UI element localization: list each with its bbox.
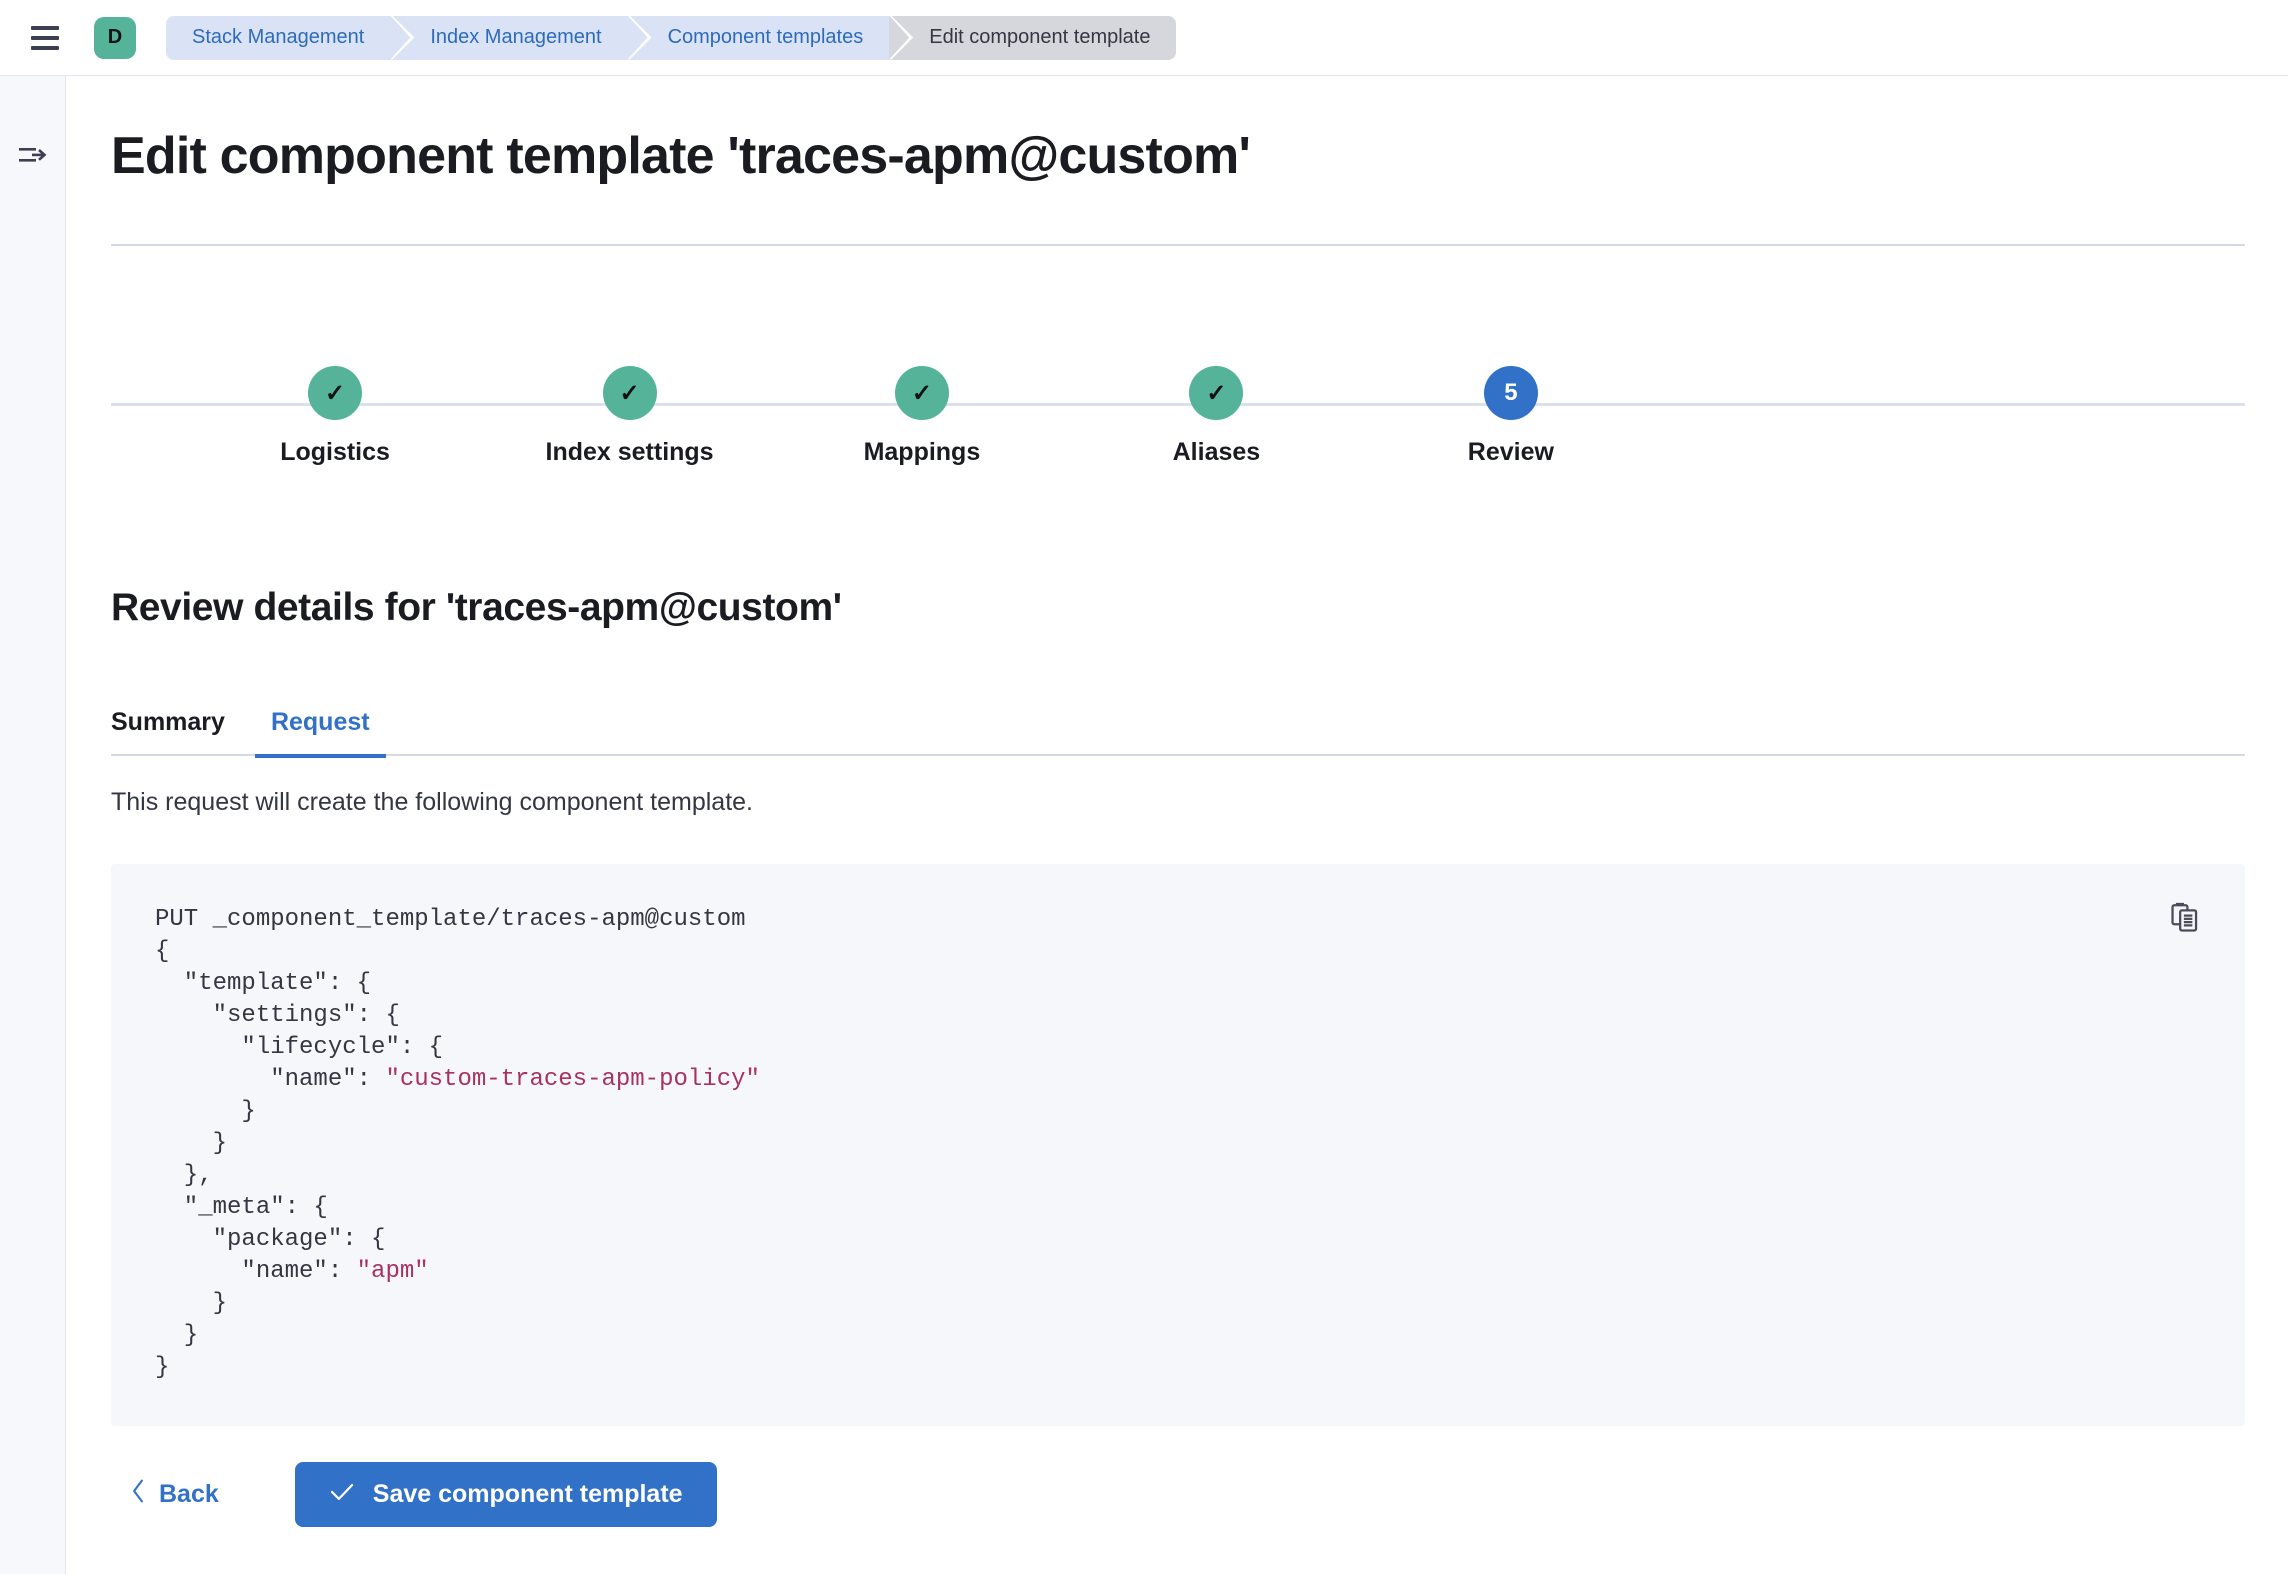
wizard-footer: Back Save component template (111, 1462, 717, 1527)
hamburger-menu-icon[interactable] (24, 17, 66, 59)
request-code-block: PUT _component_template/traces-apm@custo… (111, 864, 2245, 1426)
step-marker-complete: ✓ (895, 366, 949, 420)
code-line: "template": { (155, 968, 760, 1000)
code-line: { (155, 936, 760, 968)
code-line: } (155, 1128, 760, 1160)
step-aliases[interactable]: ✓ Aliases (1096, 366, 1336, 467)
request-code-text: PUT _component_template/traces-apm@custo… (155, 904, 760, 1384)
tab-summary[interactable]: Summary (111, 688, 255, 756)
code-line: "settings": { (155, 1000, 760, 1032)
section-title: Review details for 'traces-apm@custom' (111, 586, 842, 630)
step-marker-complete: ✓ (308, 366, 362, 420)
hamburger-line (31, 46, 59, 50)
tab-request[interactable]: Request (255, 688, 386, 756)
step-index-settings[interactable]: ✓ Index settings (510, 366, 750, 467)
step-label: Aliases (1173, 438, 1261, 467)
review-tabs: Summary Request (111, 688, 2245, 756)
breadcrumb-item-edit-component-template[interactable]: Edit component template (889, 16, 1176, 60)
back-button[interactable]: Back (111, 1466, 237, 1523)
hamburger-line (31, 26, 59, 30)
code-line: } (155, 1288, 760, 1320)
page-title: Edit component template 'traces-apm@cust… (111, 126, 1250, 186)
expand-arrow-icon[interactable] (14, 136, 52, 174)
step-review[interactable]: 5 Review (1391, 366, 1631, 467)
breadcrumb-item-index-management[interactable]: Index Management (390, 16, 627, 60)
wizard-stepper: ✓ Logistics ✓ Index settings ✓ Mappings … (111, 366, 2245, 486)
step-mappings[interactable]: ✓ Mappings (802, 366, 1042, 467)
back-button-label: Back (159, 1480, 219, 1509)
save-component-template-button[interactable]: Save component template (295, 1462, 717, 1527)
code-line: PUT _component_template/traces-apm@custo… (155, 904, 760, 936)
code-line: "_meta": { (155, 1192, 760, 1224)
code-line: } (155, 1352, 760, 1384)
breadcrumb-label: Stack Management (192, 26, 364, 49)
code-line: "lifecycle": { (155, 1032, 760, 1064)
breadcrumb-item-stack-management[interactable]: Stack Management (166, 16, 390, 60)
code-line: "package": { (155, 1224, 760, 1256)
step-label: Index settings (546, 438, 714, 467)
code-string-value: "custom-traces-apm-policy" (385, 1066, 759, 1093)
hamburger-line (31, 36, 59, 40)
chevron-left-icon (129, 1478, 147, 1511)
title-divider (111, 244, 2245, 246)
step-label: Mappings (864, 438, 981, 467)
breadcrumb: Stack Management Index Management Compon… (166, 16, 1176, 60)
check-icon (329, 1480, 355, 1509)
tab-label: Summary (111, 708, 225, 737)
request-description: This request will create the following c… (111, 788, 753, 817)
save-button-label: Save component template (373, 1480, 683, 1509)
step-marker-complete: ✓ (1189, 366, 1243, 420)
tab-label: Request (271, 708, 370, 737)
breadcrumb-label: Edit component template (929, 26, 1150, 49)
top-navigation-bar: D Stack Management Index Management Comp… (0, 0, 2288, 76)
code-line: }, (155, 1160, 760, 1192)
breadcrumb-label: Component templates (668, 26, 864, 49)
avatar[interactable]: D (94, 17, 136, 59)
step-marker-complete: ✓ (603, 366, 657, 420)
code-string-value: "apm" (357, 1258, 429, 1285)
code-line: "name": "custom-traces-apm-policy" (155, 1064, 760, 1096)
code-line: } (155, 1096, 760, 1128)
step-logistics[interactable]: ✓ Logistics (215, 366, 455, 467)
breadcrumb-item-component-templates[interactable]: Component templates (628, 16, 890, 60)
step-label: Review (1468, 438, 1554, 467)
breadcrumb-label: Index Management (430, 26, 601, 49)
code-line: } (155, 1320, 760, 1352)
step-label: Logistics (280, 438, 390, 467)
left-sidebar-rail (0, 76, 66, 1574)
step-marker-active: 5 (1484, 366, 1538, 420)
main-content: Edit component template 'traces-apm@cust… (67, 76, 2288, 1574)
copy-clipboard-icon[interactable] (2163, 896, 2207, 940)
code-line: "name": "apm" (155, 1256, 760, 1288)
